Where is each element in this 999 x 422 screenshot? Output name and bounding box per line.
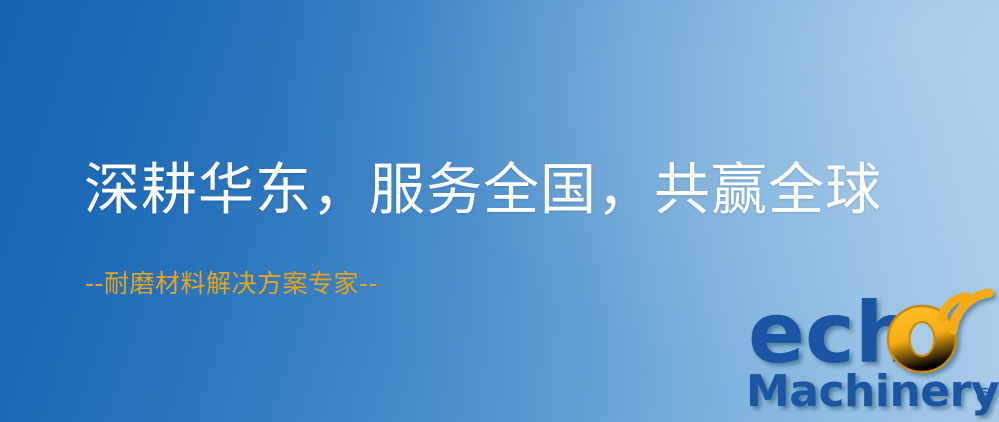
echo-machinery-logo[interactable]: ech Machinery ®	[742, 292, 998, 416]
banner-headline: 深耕华东，服务全国，共赢全球	[84, 156, 882, 226]
logo-subwordmark-machinery: Machinery	[746, 366, 999, 417]
logo-registered-mark: ®	[974, 385, 996, 410]
banner-subheadline: --耐磨材料解决方案专家--	[85, 268, 378, 300]
hero-banner: 深耕华东，服务全国，共赢全球 --耐磨材料解决方案专家--	[0, 0, 999, 422]
